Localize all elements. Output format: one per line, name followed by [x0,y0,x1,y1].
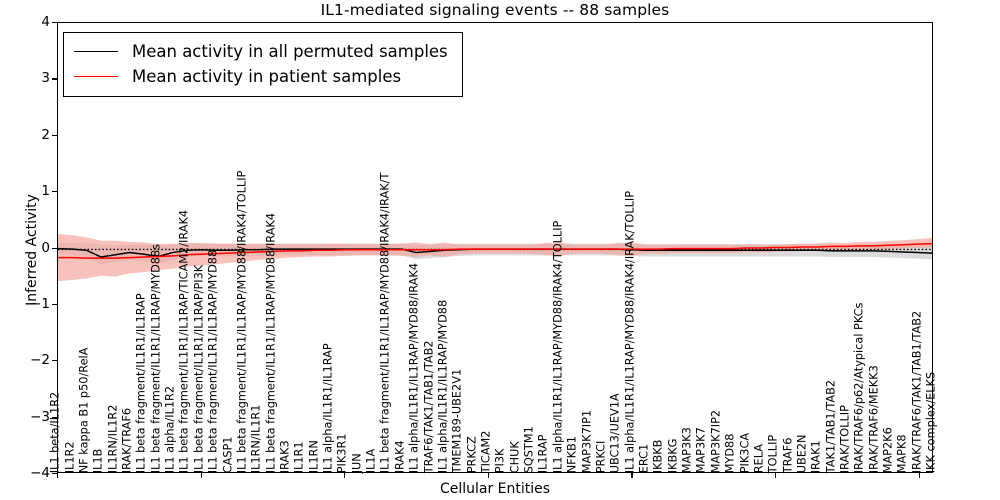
x-axis-category-label: TMEM189-UBE2V1 [452,369,463,473]
x-axis-tick-mark [631,473,632,478]
x-axis-category-label: IKK complex/ELKS [926,372,937,473]
y-axis-tick-label: 3 [10,70,50,86]
x-axis-label: Cellular Entities [57,481,933,497]
x-axis-category-label: IKBKB [653,439,664,473]
x-axis-category-label: NFKB1 [567,436,578,473]
y-axis-tick-label: 4 [10,14,50,30]
x-axis-category-label: IRAK/TRAF6/MEKK3 [868,365,879,473]
x-axis-category-label: UBE2N [797,434,808,473]
x-axis-category-label: IL1R1 [294,441,305,473]
x-axis-category-label: TICAM2 [481,430,492,473]
x-axis-category-label: NF kappa B1 p50/RelA [79,347,90,473]
chart-figure: IL1-mediated signaling events -- 88 samp… [0,0,1000,500]
x-axis-category-label: UBC13/UEV1A [610,393,621,473]
legend-entry-patient: Mean activity in patient samples [74,64,448,89]
x-axis-category-label: IRAK/TOLLIP [840,405,851,473]
x-axis-category-label: PRKCZ [466,436,477,473]
x-axis-category-label: IL1RN/IL1R1 [251,404,262,473]
x-axis-category-label: PRKCI [596,440,607,473]
x-axis-category-label: IRAK/TRAF6 [122,408,133,473]
x-axis-tick-mark [344,473,345,478]
x-axis-category-label: IL1 beta/IL1R2 [50,391,61,473]
x-axis-category-label: JUN [351,453,362,473]
x-axis-category-label: RELA [754,444,765,473]
x-axis-category-label: MAPK8 [897,434,908,473]
x-axis-category-label: ERC1 [639,444,650,474]
x-axis-category-label: IRAK/TRAF6/TAK1/TAB1/TAB2 [912,310,923,473]
x-axis-category-label: IL1 alpha/IL1R1/IL1RAP [323,343,334,473]
x-axis-category-label: IL1 alpha/IL1R1/IL1RAP/MYD88 [438,300,449,473]
x-axis-category-label: CHUK [509,441,520,473]
x-axis-category-label: MAP3K7IP1 [581,410,592,473]
x-axis-category-label: IRAK/TRAF6/p62/Atypical PKCs [854,302,865,473]
y-axis-tick-label: 2 [10,127,50,143]
x-axis-category-label: IRAK3 [280,440,291,473]
x-axis-category-label: CASP1 [222,436,233,473]
x-axis-category-label: IL1 alpha/IL1R2 [165,386,176,473]
x-axis-category-label: IL1R2 [64,441,75,473]
x-axis-category-label: IL1 beta fragment/IL1R1/IL1RAP/MYD88/IRA… [380,172,391,473]
x-axis-category-label: IRAK1 [811,440,822,473]
x-axis-category-label: MAP2K6 [883,427,894,473]
legend-swatch-patient [74,76,118,77]
x-axis-category-label: IL1 alpha/IL1R1/IL1RAP/MYD88/IRAK4/TOLLI… [553,220,564,473]
x-axis-tick-mark [488,473,489,478]
x-axis-category-label: IRAK4 [395,440,406,473]
x-axis-category-label: IL1 beta fragment/IL1R1/IL1RAP/MYD88/IRA… [265,213,276,473]
y-axis-tick-label: 1 [10,183,50,199]
x-axis-category-label: IL1 beta fragment/IL1R1/IL1RAP/MYD88/IRA… [237,170,248,473]
y-axis-tick-label: −4 [10,465,50,481]
x-axis-category-label: IL1 beta fragment/IL1R1/IL1RAP/PI3K [194,265,205,473]
x-axis-category-label: IL1RN [308,440,319,473]
x-axis-tick-mark [919,473,920,478]
y-axis-tick-label: −2 [10,352,50,368]
x-axis-category-label: IL1 beta fragment/IL1R1/IL1RAP [136,293,147,473]
x-axis-category-label: IL1 alpha/IL1R1/IL1RAP/MYD88/IRAK4/IRAK/… [624,191,635,473]
x-axis-category-label: PIK3R1 [337,433,348,473]
x-axis-category-label: MYD88 [725,433,736,473]
chart-legend: Mean activity in all permuted samples Me… [63,32,463,97]
x-axis-category-label: MAP3K3 [682,427,693,473]
x-axis-category-label: PI3K [495,448,506,473]
legend-label-patient: Mean activity in patient samples [132,67,401,86]
x-axis-tick-mark [775,473,776,478]
x-axis-category-label: IL1 beta fragment/IL1R1/IL1RAP/MYD88s [150,244,161,473]
x-axis-category-label: TRAF6/TAK1/TAB1/TAB2 [423,340,434,473]
x-axis-category-label: IL1RAP [538,434,549,473]
x-axis-category-label: TRAF6 [782,437,793,473]
x-axis-category-label: TOLLIP [768,434,779,473]
y-axis-tick-label: −1 [10,296,50,312]
y-axis-tick-label: −3 [10,409,50,425]
x-axis-category-label: SQSTM1 [524,426,535,473]
legend-entry-permuted: Mean activity in all permuted samples [74,39,448,64]
x-axis-category-label: IL1 beta fragment/IL1R1/IL1RAP/TICAM2/IR… [179,210,190,473]
legend-swatch-permuted [74,51,118,52]
x-axis-category-label: TAK1/TAB1/TAB2 [825,380,836,473]
x-axis-category-label: PIK3CA [739,433,750,473]
x-axis-tick-mark [201,473,202,478]
x-axis-category-label: IL1RN/IL1R2 [107,404,118,473]
legend-label-permuted: Mean activity in all permuted samples [132,42,448,61]
x-axis-category-label: MAP3K7 [696,427,707,473]
x-axis-category-label: IL1 alpha/IL1R1/IL1RAP/MYD88/IRAK4 [409,263,420,473]
x-axis-category-label: MAP3K7IP2 [710,410,721,473]
x-axis-category-label: IKBKG [667,438,678,473]
x-axis-category-label: IL1 beta fragment/IL1R1/IL1RAP/MYD88 [208,250,219,473]
x-axis-tick-mark [57,473,58,478]
x-axis-category-label: IL1B [93,448,104,473]
x-axis-category-label: IL1A [366,448,377,473]
y-axis-tick-label: 0 [10,240,50,256]
